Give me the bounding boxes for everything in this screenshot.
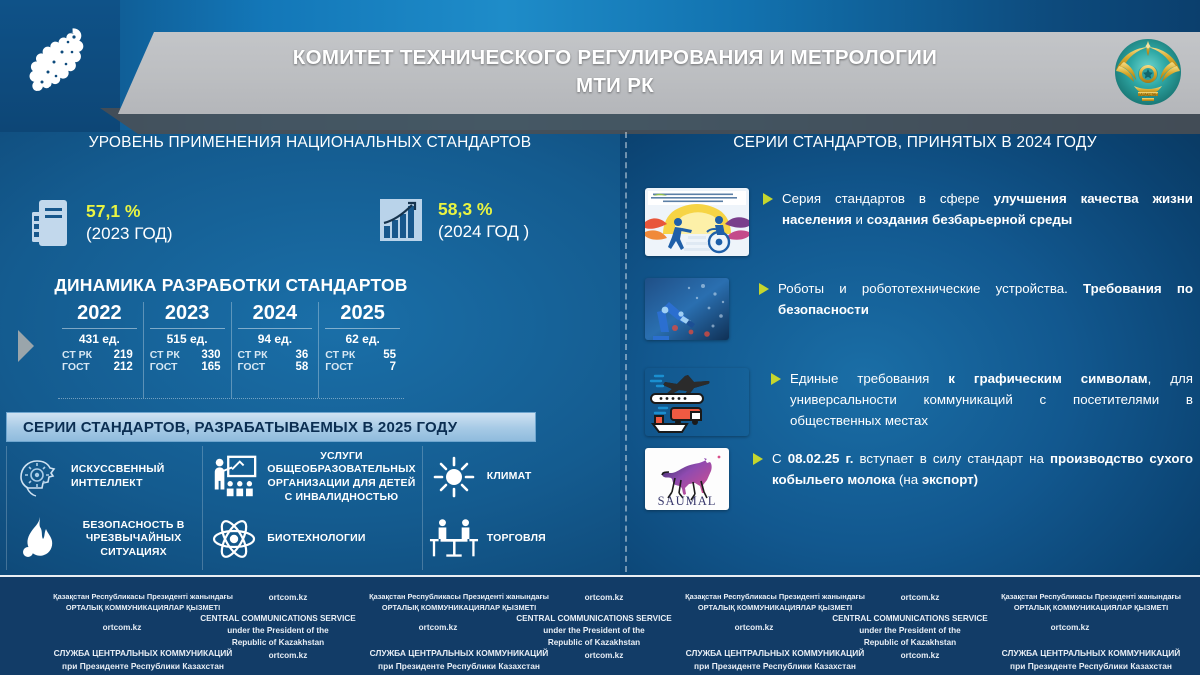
dynamics-row-key: ГОСТ	[62, 361, 90, 373]
divider	[238, 328, 313, 329]
transport-symbols-icon	[645, 368, 749, 436]
dynamics-row-value: 7	[390, 361, 396, 373]
accessibility-poster-image	[645, 188, 749, 256]
snow-leopard-icon	[26, 24, 98, 112]
footer-en-line1: CENTRAL COMMUNICATIONS SERVICE	[150, 613, 406, 625]
atom-biotech-icon	[209, 515, 259, 563]
dynamics-title: ДИНАМИКА РАЗРАБОТКИ СТАНДАРТОВ	[36, 275, 426, 296]
bullet-body: Единые требования к графическим символам…	[749, 368, 1193, 431]
dynamics-row-value: 58	[295, 361, 308, 373]
dynamics-column: 2022 431 ед. СТ РК 219 ГОСТ 212	[56, 302, 143, 398]
sun-climate-icon	[429, 454, 479, 500]
dynamics-total: 515 ед.	[148, 332, 227, 349]
dynamics-row: СТ РК 36	[236, 349, 315, 361]
footer-url: ortcom.kz	[542, 651, 666, 660]
topic-education-disability[interactable]: УСЛУГИ ОБЩЕОБРАЗОВАТЕЛЬНЫХ ОРГАНИЗАЦИИ Д…	[202, 446, 422, 508]
footer-en-line2: under the President of the	[466, 625, 722, 637]
dynamics-row: СТ РК 55	[323, 349, 402, 361]
bullet-body: Серия стандартов в сфере улучшения качес…	[749, 188, 1193, 230]
footer-kz-line2: ОРТАЛЫҚ КОММУНИКАЦИЯЛАР ҚЫЗМЕТІ	[650, 602, 900, 613]
dynamics-column: 2025 62 ед. СТ РК 55 ГОСТ 7	[318, 302, 406, 398]
dynamics-row-value: 36	[295, 349, 308, 361]
footer-kz-line2: ОРТАЛЫҚ КОММУНИКАЦИЯЛАР ҚЫЗМЕТІ	[334, 602, 584, 613]
footer-en-block: CENTRAL COMMUNICATIONS SERVICE under the…	[150, 613, 406, 649]
slide-root: КОМИТЕТ ТЕХНИЧЕСКОГО РЕГУЛИРОВАНИЯ И МЕТ…	[0, 0, 1200, 675]
bullet-text: С 08.02.25 г. вступает в силу стандарт н…	[772, 448, 1193, 490]
footer-url: ortcom.kz	[1008, 623, 1132, 632]
footer-en-line2: under the President of the	[150, 625, 406, 637]
dynamics-total: 431 ед.	[60, 332, 139, 349]
kpi-2024-text: 58,3 % (2024 ГОД )	[438, 198, 529, 245]
dynamics-row: ГОСТ 7	[323, 361, 402, 373]
footer-url: ortcom.kz	[60, 623, 184, 632]
kazakhstan-state-emblem-icon: ҚАЗАҚСТАН	[1112, 36, 1184, 108]
divider	[62, 328, 137, 329]
footer-ru-block: СЛУЖБА ЦЕНТРАЛЬНЫХ КОММУНИКАЦИЙ при През…	[958, 647, 1200, 672]
topic-label: ТОРГОВЛЯ	[487, 532, 546, 546]
brain-gear-ai-icon	[13, 455, 63, 499]
dynamics-row: СТ РК 330	[148, 349, 227, 361]
bullet-item: SAUMAL С 08.02.25 г. вступает в силу ста…	[645, 448, 1193, 510]
bullet-text: Серия стандартов в сфере улучшения качес…	[782, 188, 1193, 230]
footer-kz-block: Қазақстан Республикасы Президенті жанынд…	[966, 591, 1200, 613]
dynamics-year: 2022	[60, 302, 139, 327]
footer-kz-line1: Қазақстан Республикасы Президенті жанынд…	[966, 591, 1200, 602]
topic-emergency-safety[interactable]: БЕЗОПАСНОСТЬ В ЧРЕЗВЫЧАЙНЫХ СИТУАЦИЯХ	[6, 508, 202, 570]
topic-label: УСЛУГИ ОБЩЕОБРАЗОВАТЕЛЬНЫХ ОРГАНИЗАЦИИ Д…	[267, 450, 416, 505]
footer-url: ortcom.kz	[226, 651, 350, 660]
footer-ru-line2: при Президенте Республики Казахстан	[326, 660, 592, 673]
footer-ru-line2: при Президенте Республики Казахстан	[958, 660, 1200, 673]
series-2025-banner: СЕРИИ СТАНДАРТОВ, РАЗРАБАТЫВАЕМЫХ В 2025…	[6, 412, 536, 442]
bullet-item: Роботы и робототехнические устройства. Т…	[645, 278, 1193, 340]
divider	[325, 328, 400, 329]
footer-en-line1: CENTRAL COMMUNICATIONS SERVICE	[466, 613, 722, 625]
bullet-arrow-icon	[753, 453, 763, 465]
dynamics-row-value: 212	[114, 361, 133, 373]
footer-en-block: CENTRAL COMMUNICATIONS SERVICE under the…	[782, 613, 1038, 649]
kpi-2023-year: (2023 ГОД)	[86, 223, 172, 246]
dynamics-total: 94 ед.	[236, 332, 315, 349]
triangle-marker-icon	[18, 330, 34, 362]
dynamics-row-value: 55	[383, 349, 396, 361]
bullet-body: Роботы и робототехнические устройства. Т…	[729, 278, 1193, 320]
saumal-horse-logo-image: SAUMAL	[645, 448, 729, 510]
kpi-2024-percent: 58,3 %	[438, 198, 529, 222]
kpi-2023-text: 57,1 % (2023 ГОД)	[86, 200, 172, 247]
dynamics-table: 2022 431 ед. СТ РК 219 ГОСТ 212 2023 515…	[56, 302, 406, 398]
dynamics-row: ГОСТ 165	[148, 361, 227, 373]
footer-url: ortcom.kz	[226, 593, 350, 602]
bullet-arrow-icon	[759, 283, 769, 295]
page-title-line1: КОМИТЕТ ТЕХНИЧЕСКОГО РЕГУЛИРОВАНИЯ И МЕТ…	[150, 44, 1080, 72]
footer-ru-line1: СЛУЖБА ЦЕНТРАЛЬНЫХ КОММУНИКАЦИЙ	[958, 647, 1200, 660]
dynamics-row: ГОСТ 212	[60, 361, 139, 373]
dynamics-row: СТ РК 219	[60, 349, 139, 361]
footer-en-line2: under the President of the	[782, 625, 1038, 637]
footer-kz-line2: ОРТАЛЫҚ КОММУНИКАЦИЯЛАР ҚЫЗМЕТІ	[18, 602, 268, 613]
topics-grid: ИСКУССВЕННЫЙ ИНТТЕЛЛЕКТ УСЛУГИ ОБЩЕ	[6, 446, 618, 570]
dynamics-row-value: 330	[201, 349, 220, 361]
bullet-body: С 08.02.25 г. вступает в силу стандарт н…	[729, 448, 1193, 490]
dynamics-bottom-divider	[58, 398, 404, 399]
dynamics-row-value: 219	[114, 349, 133, 361]
footer-kz-line2: ОРТАЛЫҚ КОММУНИКАЦИЯЛАР ҚЫЗМЕТІ	[966, 602, 1200, 613]
dynamics-row-value: 165	[201, 361, 220, 373]
dynamics-row-key: ГОСТ	[325, 361, 353, 373]
topic-ai[interactable]: ИСКУССВЕННЫЙ ИНТТЕЛЛЕКТ	[6, 446, 202, 508]
bullet-item: Серия стандартов в сфере улучшения качес…	[645, 188, 1193, 256]
footer-url: ortcom.kz	[692, 623, 816, 632]
footer-url: ortcom.kz	[858, 651, 982, 660]
bullet-text: Роботы и робототехнические устройства. Т…	[778, 278, 1193, 320]
footer-ru-line2: при Президенте Республики Казахстан	[10, 660, 276, 673]
dynamics-column: 2023 515 ед. СТ РК 330 ГОСТ 165	[143, 302, 231, 398]
svg-text:SAUMAL: SAUMAL	[658, 494, 717, 508]
dynamics-row-key: СТ РК	[150, 349, 180, 361]
svg-text:ҚАЗАҚСТАН: ҚАЗАҚСТАН	[1138, 93, 1158, 97]
dynamics-year: 2025	[323, 302, 402, 327]
topic-label: БИОТЕХНОЛОГИИ	[267, 532, 365, 546]
teacher-board-icon	[209, 453, 259, 501]
topic-label: ИСКУССВЕННЫЙ ИНТТЕЛЛЕКТ	[71, 463, 196, 490]
kpi-2023-percent: 57,1 %	[86, 200, 172, 224]
dynamics-total: 62 ед.	[323, 332, 402, 349]
page-title: КОМИТЕТ ТЕХНИЧЕСКОГО РЕГУЛИРОВАНИЯ И МЕТ…	[150, 44, 1080, 99]
topic-climate[interactable]: КЛИМАТ	[422, 446, 618, 508]
bullet-item: Единые требования к графическим символам…	[645, 368, 1193, 436]
bullet-text: Единые требования к графическим символам…	[790, 368, 1193, 431]
divider	[150, 328, 225, 329]
dynamics-row-key: ГОСТ	[150, 361, 178, 373]
bullet-arrow-icon	[771, 373, 781, 385]
left-section-title: УРОВЕНЬ ПРИМЕНЕНИЯ НАЦИОНАЛЬНЫХ СТАНДАРТ…	[60, 132, 560, 154]
bullet-arrow-icon	[763, 193, 773, 205]
dynamics-year: 2024	[236, 302, 315, 327]
topic-trade[interactable]: ТОРГОВЛЯ	[422, 508, 618, 570]
dynamics-year: 2023	[148, 302, 227, 327]
footer-en-line1: CENTRAL COMMUNICATIONS SERVICE	[782, 613, 1038, 625]
dynamics-column: 2024 94 ед. СТ РК 36 ГОСТ 58	[231, 302, 319, 398]
footer-url: ortcom.kz	[376, 623, 500, 632]
bar-chart-growth-icon	[378, 196, 424, 246]
topic-label: БЕЗОПАСНОСТЬ В ЧРЕЗВЫЧАЙНЫХ СИТУАЦИЯХ	[71, 519, 196, 560]
kpi-2024-year: (2024 ГОД )	[438, 221, 529, 244]
footer-en-block: CENTRAL COMMUNICATIONS SERVICE under the…	[466, 613, 722, 649]
right-section-title: СЕРИИ СТАНДАРТОВ, ПРИНЯТЫХ В 2024 ГОДУ	[640, 132, 1190, 154]
footer-url: ortcom.kz	[858, 593, 982, 602]
kpi-2023: 57,1 % (2023 ГОД)	[28, 196, 172, 250]
negotiation-trade-icon	[429, 515, 479, 563]
column-divider	[625, 132, 627, 572]
document-book-icon	[28, 196, 72, 250]
dynamics-row: ГОСТ 58	[236, 361, 315, 373]
series-2025-banner-label: СЕРИИ СТАНДАРТОВ, РАЗРАБАТЫВАЕМЫХ В 2025…	[7, 419, 457, 436]
flame-emergency-icon	[13, 515, 63, 563]
footer-ru-line2: при Президенте Республики Казахстан	[642, 660, 908, 673]
dynamics-row-key: СТ РК	[62, 349, 92, 361]
kpi-2024: 58,3 % (2024 ГОД )	[378, 196, 529, 246]
dynamics-row-key: СТ РК	[325, 349, 355, 361]
dynamics-row-key: СТ РК	[238, 349, 268, 361]
topic-biotechnology[interactable]: БИОТЕХНОЛОГИИ	[202, 508, 422, 570]
footer-url: ortcom.kz	[542, 593, 666, 602]
dynamics-row-key: ГОСТ	[238, 361, 266, 373]
page-title-line2: МТИ РК	[150, 72, 1080, 100]
footer-watermark-bar: Қазақстан Республикасы Президенті жанынд…	[0, 575, 1200, 675]
robot-arm-image	[645, 278, 729, 340]
topic-label: КЛИМАТ	[487, 470, 532, 484]
